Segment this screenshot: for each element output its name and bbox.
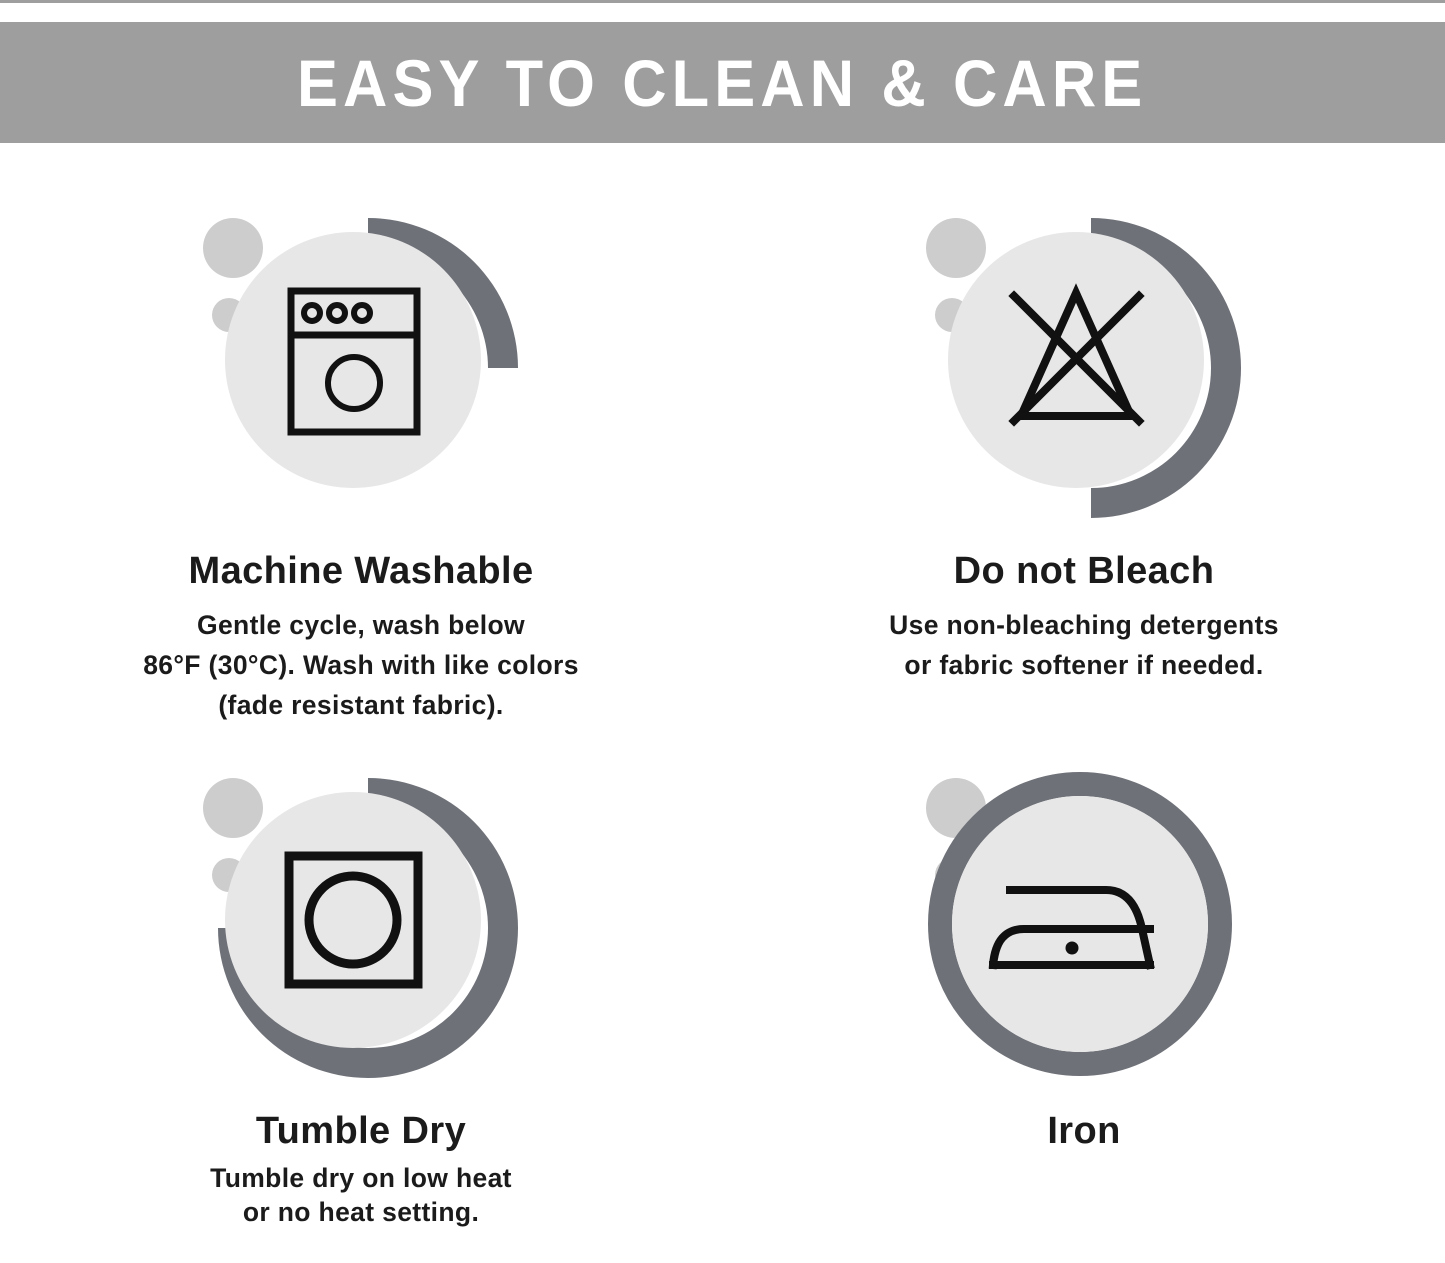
card-body-text: Tumble dry on low heat or no heat settin… (31, 1161, 691, 1229)
care-instructions-grid: Machine Washable Gentle cycle, wash belo… (0, 143, 1445, 1263)
page-title: EASY TO CLEAN & CARE (297, 50, 1147, 116)
card-heading: Tumble Dry (0, 1112, 722, 1150)
top-divider-rule (0, 0, 1445, 3)
card-body-text: Use non-bleaching detergents or fabric s… (754, 605, 1414, 685)
iron-icon (904, 753, 1264, 1083)
do-not-bleach-icon (904, 193, 1264, 523)
care-card-machine-washable: Machine Washable Gentle cycle, wash belo… (0, 143, 722, 703)
header-banner: EASY TO CLEAN & CARE (0, 22, 1445, 143)
care-card-tumble-dry: Tumble Dry Tumble dry on low heat or no … (0, 703, 722, 1263)
washing-machine-icon (181, 193, 541, 523)
care-card-iron: Iron (723, 703, 1445, 1263)
care-card-do-not-bleach: Do not Bleach Use non-bleaching detergen… (723, 143, 1445, 703)
card-heading: Do not Bleach (723, 552, 1445, 590)
card-heading: Iron (723, 1112, 1445, 1150)
card-heading: Machine Washable (0, 552, 722, 590)
tumble-dry-icon (181, 753, 541, 1083)
